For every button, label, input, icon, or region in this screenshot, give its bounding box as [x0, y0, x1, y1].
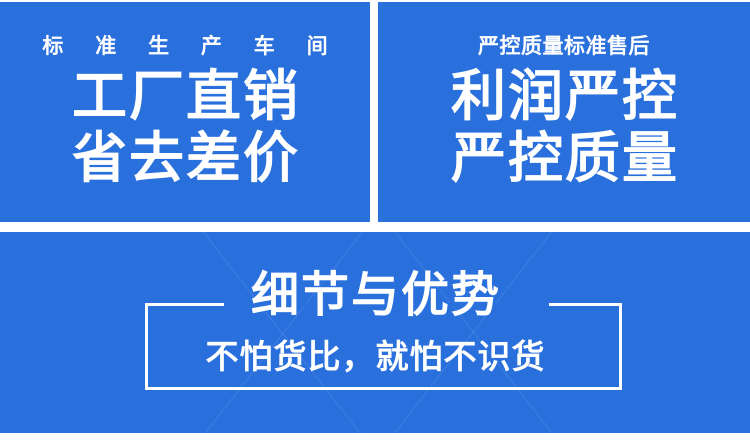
panel-right-headline: 利润严控 严控质量 [378, 66, 750, 189]
panel-left-headline: 工厂直销 省去差价 [0, 66, 370, 189]
bottom-panel-subtitle: 不怕货比，就怕不识货 [0, 340, 750, 373]
panel-left-eyebrow: 标 准 生 产 车 间 [0, 35, 370, 58]
panel-factory-direct: 标 准 生 产 车 间 工厂直销 省去差价 [0, 2, 370, 222]
promo-banner: 标 准 生 产 车 间 工厂直销 省去差价 严控质量标准售后 利润严控 严控质量… [0, 0, 750, 440]
panel-right-content: 严控质量标准售后 利润严控 严控质量 [378, 35, 750, 189]
panel-right-eyebrow: 严控质量标准售后 [378, 35, 750, 58]
panel-details-advantages: 细节与优势 不怕货比，就怕不识货 [0, 232, 750, 433]
panel-quality-control: 严控质量标准售后 利润严控 严控质量 [378, 2, 750, 222]
bottom-panel-title: 细节与优势 [0, 272, 750, 320]
panel-left-headline-line2: 省去差价 [0, 128, 370, 190]
panel-right-headline-line1: 利润严控 [378, 66, 750, 128]
panel-left-headline-line1: 工厂直销 [0, 66, 370, 128]
panel-left-content: 标 准 生 产 车 间 工厂直销 省去差价 [0, 35, 370, 189]
panel-right-headline-line2: 严控质量 [378, 128, 750, 190]
